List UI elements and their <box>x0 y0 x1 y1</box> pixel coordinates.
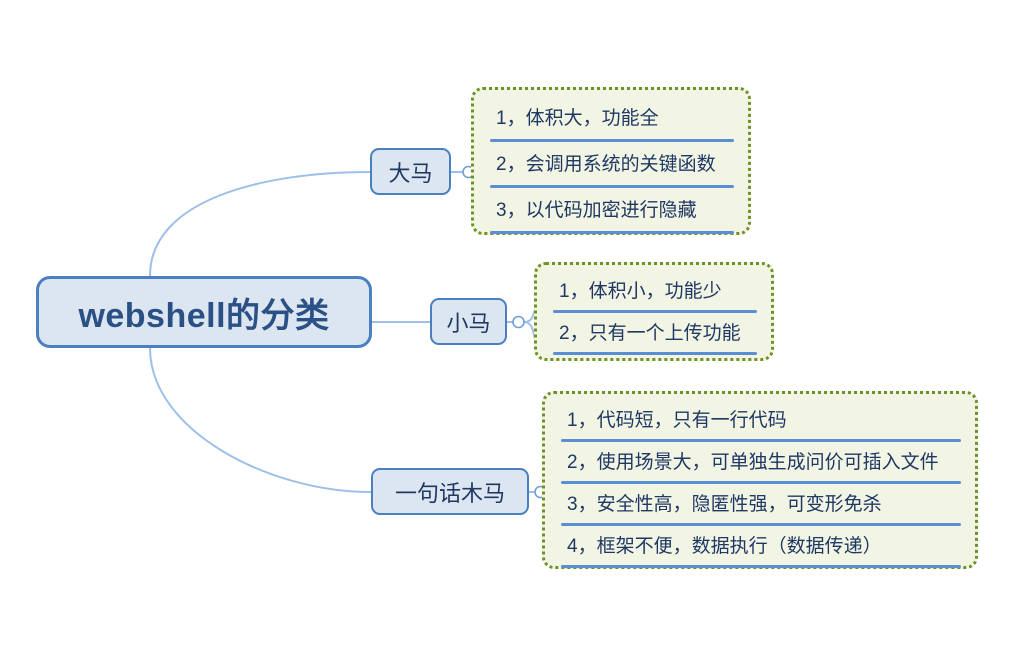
branch-node-yijuhua[interactable]: 一句话木马 <box>371 468 529 515</box>
list-item[interactable]: 1，体积大，功能全 <box>484 96 738 142</box>
leaf-label: 1，体积小，功能少 <box>559 282 722 301</box>
branch-node-xiaoma-label: 小马 <box>446 306 490 338</box>
xiaoma-fan-hub <box>513 317 524 328</box>
list-item[interactable]: 1，体积小，功能少 <box>547 271 761 313</box>
list-item[interactable]: 3，以代码加密进行隐藏 <box>484 188 738 234</box>
list-item[interactable]: 4，框架不便，数据执行（数据传递） <box>555 526 965 568</box>
leaf-underline <box>553 352 757 355</box>
leaf-underline <box>490 231 734 234</box>
mindmap-canvas: webshell的分类 大马 1，体积大，功能全 2，会调用系统的关键函数 3，… <box>0 0 1024 645</box>
leaf-label: 2，使用场景大，可单独生成问价可插入文件 <box>567 453 939 472</box>
root-node[interactable]: webshell的分类 <box>36 276 372 348</box>
branch-node-dama-label: 大马 <box>388 156 432 188</box>
branch-node-dama[interactable]: 大马 <box>370 148 451 195</box>
detail-box-xiaoma: 1，体积小，功能少 2，只有一个上传功能 <box>534 262 774 361</box>
leaf-label: 4，框架不便，数据执行（数据传递） <box>567 537 882 556</box>
leaf-label: 1，代码短，只有一行代码 <box>567 411 787 430</box>
root-node-label: webshell的分类 <box>78 288 329 337</box>
list-item[interactable]: 2，只有一个上传功能 <box>547 313 761 355</box>
leaf-label: 2，只有一个上传功能 <box>559 324 741 343</box>
list-item[interactable]: 1，代码短，只有一行代码 <box>555 400 965 442</box>
leaf-underline <box>561 565 961 568</box>
list-item[interactable]: 2，使用场景大，可单独生成问价可插入文件 <box>555 442 965 484</box>
list-item[interactable]: 3，安全性高，隐匿性强，可变形免杀 <box>555 484 965 526</box>
leaf-label: 3，安全性高，隐匿性强，可变形免杀 <box>567 495 882 514</box>
leaf-label: 1，体积大，功能全 <box>496 109 659 128</box>
leaf-label: 3，以代码加密进行隐藏 <box>496 201 697 220</box>
branch-node-yijuhua-label: 一句话木马 <box>395 476 505 508</box>
branch-node-xiaoma[interactable]: 小马 <box>430 298 507 345</box>
edge-root-to-dama <box>150 172 370 276</box>
list-item[interactable]: 2，会调用系统的关键函数 <box>484 142 738 188</box>
detail-box-dama: 1，体积大，功能全 2，会调用系统的关键函数 3，以代码加密进行隐藏 <box>471 87 751 235</box>
leaf-label: 2，会调用系统的关键函数 <box>496 155 716 174</box>
edge-root-to-yijuhua <box>150 348 371 492</box>
detail-box-yijuhua: 1，代码短，只有一行代码 2，使用场景大，可单独生成问价可插入文件 3，安全性高… <box>542 391 978 569</box>
